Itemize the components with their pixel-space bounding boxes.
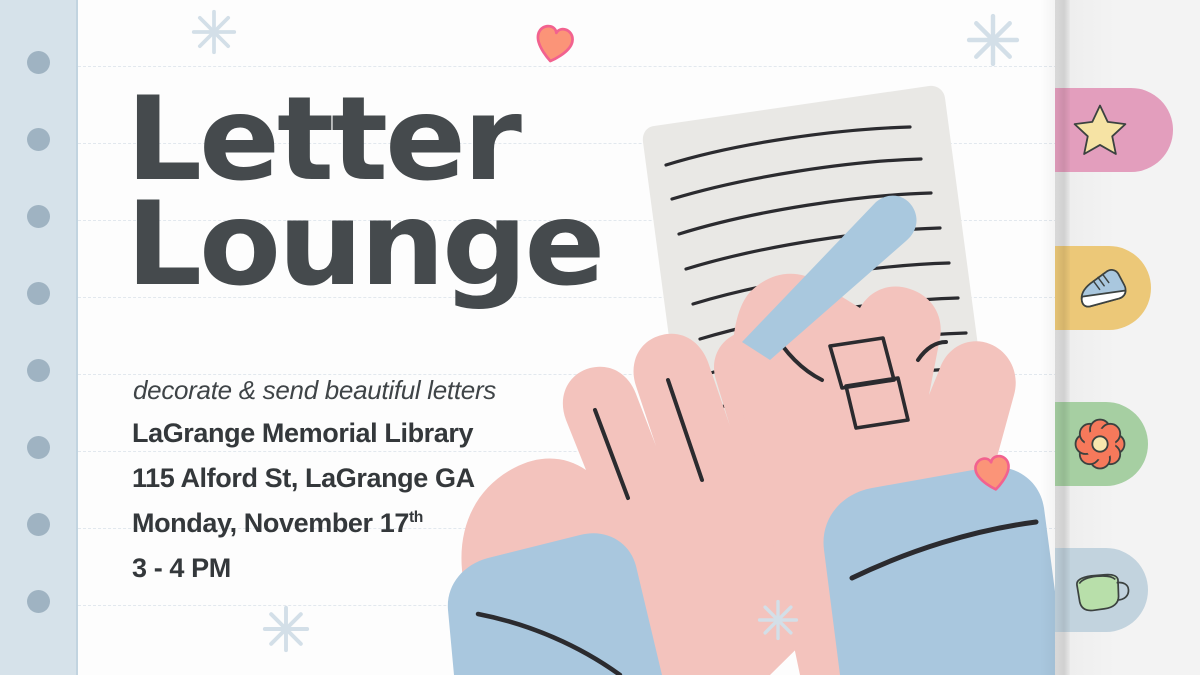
binder-hole: [27, 513, 50, 536]
heart-right-icon: [969, 449, 1018, 498]
date-ordinal: th: [409, 509, 423, 526]
tagline: decorate & send beautiful letters: [133, 375, 496, 406]
cup-icon: [1071, 567, 1133, 613]
sparkle-bottom-center-icon: [758, 600, 798, 640]
page-title: Letter Lounge: [126, 84, 602, 301]
binder-hole: [27, 128, 50, 151]
poster-canvas: Letter Lounge decorate & send beautiful …: [0, 0, 1200, 675]
tab-flower[interactable]: [1055, 402, 1148, 486]
notebook-page: Letter Lounge decorate & send beautiful …: [0, 0, 1062, 675]
binder-hole: [27, 359, 50, 382]
sparkle-top-right-icon: [967, 14, 1019, 66]
binder-hole: [27, 205, 50, 228]
title-line-2: Lounge: [126, 189, 602, 300]
address-line: 115 Alford St, LaGrange GA: [132, 463, 475, 494]
tab-sneaker[interactable]: [1055, 246, 1151, 330]
sparkle-bottom-left-icon: [263, 606, 309, 652]
time-line: 3 - 4 PM: [132, 553, 475, 584]
flower-icon: [1071, 415, 1129, 473]
heart-top-icon: [528, 18, 580, 70]
binder-hole: [27, 590, 50, 613]
star-icon: [1071, 101, 1129, 159]
date-line: Monday, November 17th: [132, 508, 475, 539]
tab-cup[interactable]: [1055, 548, 1148, 632]
venue-line: LaGrange Memorial Library: [132, 418, 475, 449]
tab-star[interactable]: [1055, 88, 1173, 172]
binder-strip: [0, 0, 76, 675]
binder-edge: [76, 0, 78, 675]
binder-hole: [27, 282, 50, 305]
right-sleeve: [823, 467, 1062, 675]
binder-hole: [27, 51, 50, 74]
date-text: Monday, November 17: [132, 508, 409, 538]
binder-hole: [27, 436, 50, 459]
sparkle-top-left-icon: [192, 10, 236, 54]
sneaker-icon: [1071, 266, 1133, 310]
event-details: LaGrange Memorial Library 115 Alford St,…: [132, 418, 475, 598]
